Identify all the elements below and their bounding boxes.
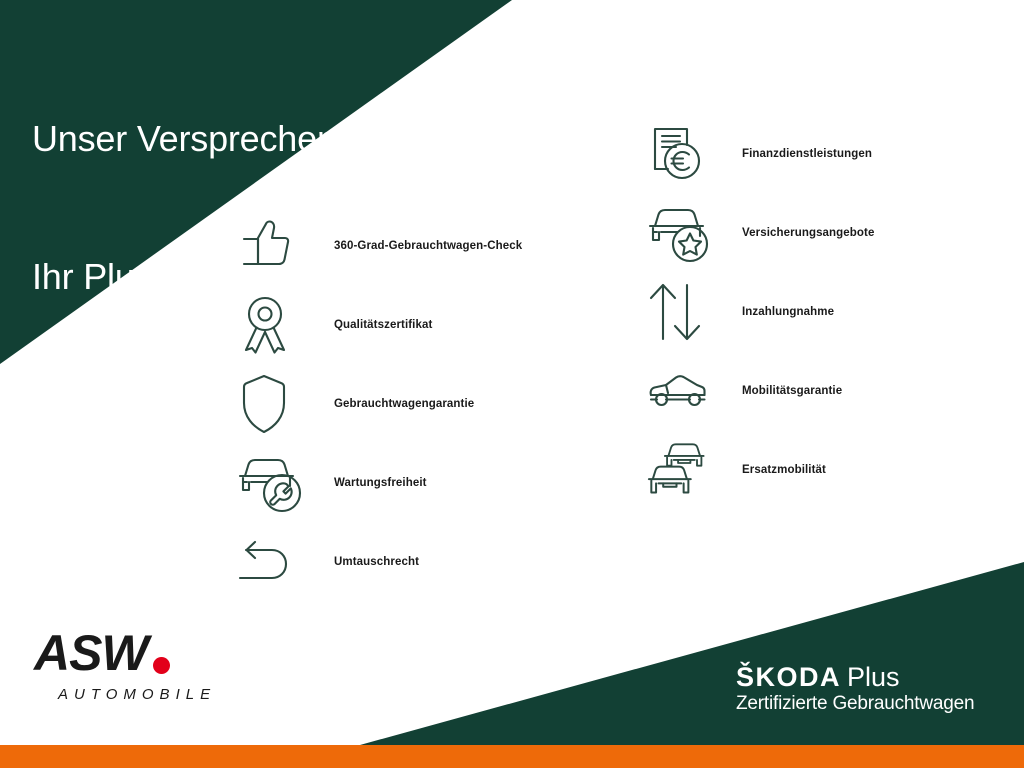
- skoda-brand-text: ŠKODA: [736, 662, 841, 692]
- dealer-logo-dot: [153, 657, 170, 674]
- dealer-subtitle: AUTOMOBILE: [34, 686, 216, 703]
- feature-item-maintenance-free: Wartungsfreiheit: [236, 443, 596, 522]
- return-arrow-icon: [236, 531, 308, 593]
- orange-accent-bar: [0, 745, 1024, 768]
- headline-line-1: Unser Versprechen.: [32, 116, 347, 162]
- car-star-icon: [646, 202, 718, 264]
- car-wrench-icon: [236, 452, 308, 514]
- up-down-arrows-icon: [646, 281, 718, 343]
- document-euro-icon: [646, 123, 718, 185]
- feature-label: Finanzdienstleistungen: [718, 148, 872, 160]
- feature-item-replacement-mobility: Ersatzmobilität: [646, 430, 1016, 509]
- feature-label: Umtauschrecht: [308, 556, 419, 568]
- feature-item-trade-in: Inzahlungnahme: [646, 272, 1016, 351]
- feature-label: Wartungsfreiheit: [308, 477, 427, 489]
- feature-item-return-right: Umtauschrecht: [236, 522, 596, 601]
- shield-icon: [236, 373, 308, 435]
- car-side-icon: [646, 360, 718, 422]
- skoda-tagline: Zertifizierte Gebrauchtwagen: [736, 693, 974, 715]
- feature-label: Inzahlungnahme: [718, 306, 834, 318]
- award-rosette-icon: [236, 294, 308, 356]
- promo-banner: Unser Versprechen. Ihr Plus. 360-Grad-Ge…: [0, 0, 1024, 768]
- dealer-logo: ASW AUTOMOBILE: [34, 628, 216, 703]
- skoda-plus-logo: ŠKODAPlus Zertifizierte Gebrauchtwagen: [736, 663, 974, 715]
- two-cars-icon: [646, 439, 718, 501]
- feature-label: Gebrauchtwagengarantie: [308, 398, 474, 410]
- feature-item-mobility-guarantee: Mobilitätsgarantie: [646, 351, 1016, 430]
- feature-item-financial-services: Finanzdienstleistungen: [646, 114, 1016, 193]
- feature-label: Mobilitätsgarantie: [718, 385, 842, 397]
- feature-label: Qualitätszertifikat: [308, 319, 432, 331]
- feature-list-left: 360-Grad-Gebrauchtwagen-Check Qualitätsz…: [236, 206, 596, 601]
- feature-label: Ersatzmobilität: [718, 464, 826, 476]
- dealer-wordmark: ASW: [34, 628, 216, 678]
- feature-item-insurance-offers: Versicherungsangebote: [646, 193, 1016, 272]
- feature-item-warranty: Gebrauchtwagengarantie: [236, 364, 596, 443]
- feature-item-360-check: 360-Grad-Gebrauchtwagen-Check: [236, 206, 596, 285]
- skoda-plus-text: Plus: [847, 662, 900, 692]
- feature-label: Versicherungsangebote: [718, 227, 874, 239]
- feature-item-quality-certificate: Qualitätszertifikat: [236, 285, 596, 364]
- thumbs-up-icon: [236, 215, 308, 277]
- skoda-logo-line-1: ŠKODAPlus: [736, 663, 974, 691]
- feature-list-right: Finanzdienstleistungen Versicherungsange…: [646, 114, 1016, 509]
- dealer-wordmark-text: ASW: [34, 628, 148, 678]
- feature-label: 360-Grad-Gebrauchtwagen-Check: [308, 240, 522, 252]
